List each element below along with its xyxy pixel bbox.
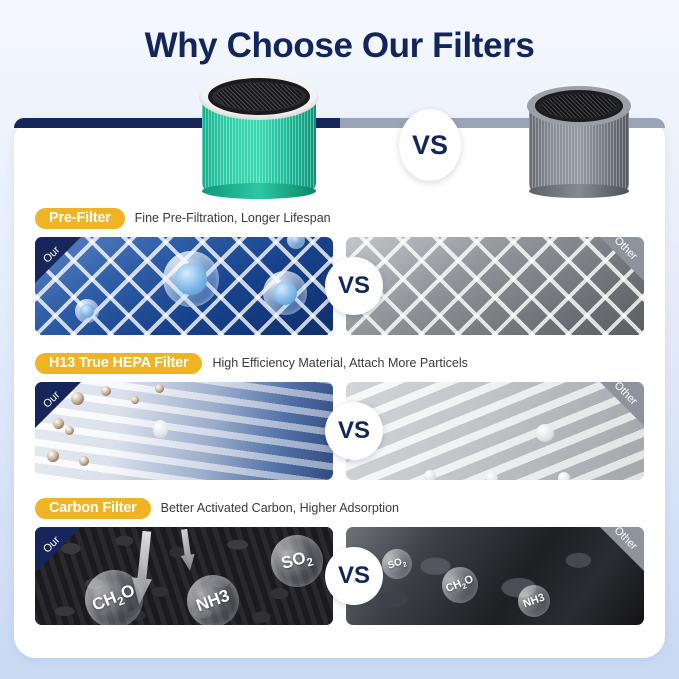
trapped-particle	[536, 424, 554, 442]
comparison-panes: Our Other VS	[14, 237, 665, 335]
pane-our-hepa-filter: Our	[35, 382, 333, 480]
vs-badge-hepa-filter: VS	[325, 402, 383, 460]
dust-particle	[101, 386, 111, 396]
comparison-panes: Our Other VS	[14, 382, 665, 480]
pane-other-carbon-filter: SO2 CH2O NH3 Other	[346, 527, 644, 625]
badge-pre-filter: Pre-Filter	[35, 208, 125, 229]
section-carbon-filter: Carbon Filter Better Activated Carbon, H…	[14, 496, 665, 625]
dust-particle	[155, 384, 164, 393]
comparison-panes: SO2 CH2O NH3 Our SO2	[14, 527, 665, 625]
vs-badge-carbon-filter: VS	[325, 547, 383, 605]
section-description: Fine Pre-Filtration, Longer Lifespan	[135, 211, 331, 225]
particle-bubble	[263, 271, 307, 315]
pane-our-carbon-filter: SO2 CH2O NH3 Our	[35, 527, 333, 625]
filter-mesh	[216, 83, 302, 110]
pane-other-hepa-filter: Other	[346, 382, 644, 480]
corner-ribbon-our	[35, 527, 81, 573]
molecule-bubble-so2: SO2	[265, 529, 329, 593]
section-header: H13 True HEPA Filter High Efficiency Mat…	[14, 351, 665, 375]
section-header: Pre-Filter Fine Pre-Filtration, Longer L…	[14, 206, 665, 230]
particle-bubble	[287, 237, 305, 249]
pane-other-pre-filter: Other	[346, 237, 644, 335]
molecule-bubble-nh3: NH3	[513, 580, 554, 621]
molecule-bubble-ch2o: CH2O	[437, 562, 484, 609]
particle-bubble	[75, 299, 99, 323]
trapped-particle	[486, 472, 498, 480]
trapped-particle	[558, 472, 570, 480]
section-hepa-filter: H13 True HEPA Filter High Efficiency Mat…	[14, 351, 665, 480]
molecule-label: NH3	[522, 592, 547, 611]
dust-particle	[47, 450, 59, 462]
vs-badge-hero: VS	[399, 109, 461, 181]
molecule-label: SO2	[386, 555, 407, 573]
section-header: Carbon Filter Better Activated Carbon, H…	[14, 496, 665, 520]
badge-hepa-filter: H13 True HEPA Filter	[35, 353, 202, 374]
comparison-card: Pre-Filter Fine Pre-Filtration, Longer L…	[14, 118, 665, 658]
hero-filter-comparison	[14, 56, 665, 206]
badge-carbon-filter: Carbon Filter	[35, 498, 151, 519]
section-description: Better Activated Carbon, Higher Adsorpti…	[161, 501, 399, 515]
molecule-label: SO2	[279, 546, 315, 576]
trapped-particle	[153, 420, 168, 439]
corner-ribbon-our	[35, 237, 81, 283]
section-pre-filter: Pre-Filter Fine Pre-Filtration, Longer L…	[14, 206, 665, 335]
trapped-particle	[424, 470, 436, 480]
our-green-filter-product	[199, 56, 319, 196]
dust-particle	[79, 456, 89, 466]
molecule-label: CH2O	[89, 580, 138, 617]
molecule-bubble-nh3: NH3	[180, 568, 247, 625]
page-title: Why Choose Our Filters	[0, 0, 679, 63]
molecule-label: CH2O	[444, 573, 476, 597]
molecule-bubble-so2: SO2	[378, 545, 416, 583]
corner-ribbon-our	[35, 382, 81, 428]
filter-mesh	[542, 94, 616, 118]
dust-particle	[131, 396, 139, 404]
airflow-arrow-icon	[177, 528, 197, 572]
particle-bubble	[163, 251, 219, 307]
other-gray-filter-product	[527, 74, 631, 196]
pane-our-pre-filter: Our	[35, 237, 333, 335]
vs-badge-pre-filter: VS	[325, 257, 383, 315]
molecule-label: NH3	[194, 586, 233, 616]
section-description: High Efficiency Material, Attach More Pa…	[212, 356, 467, 370]
